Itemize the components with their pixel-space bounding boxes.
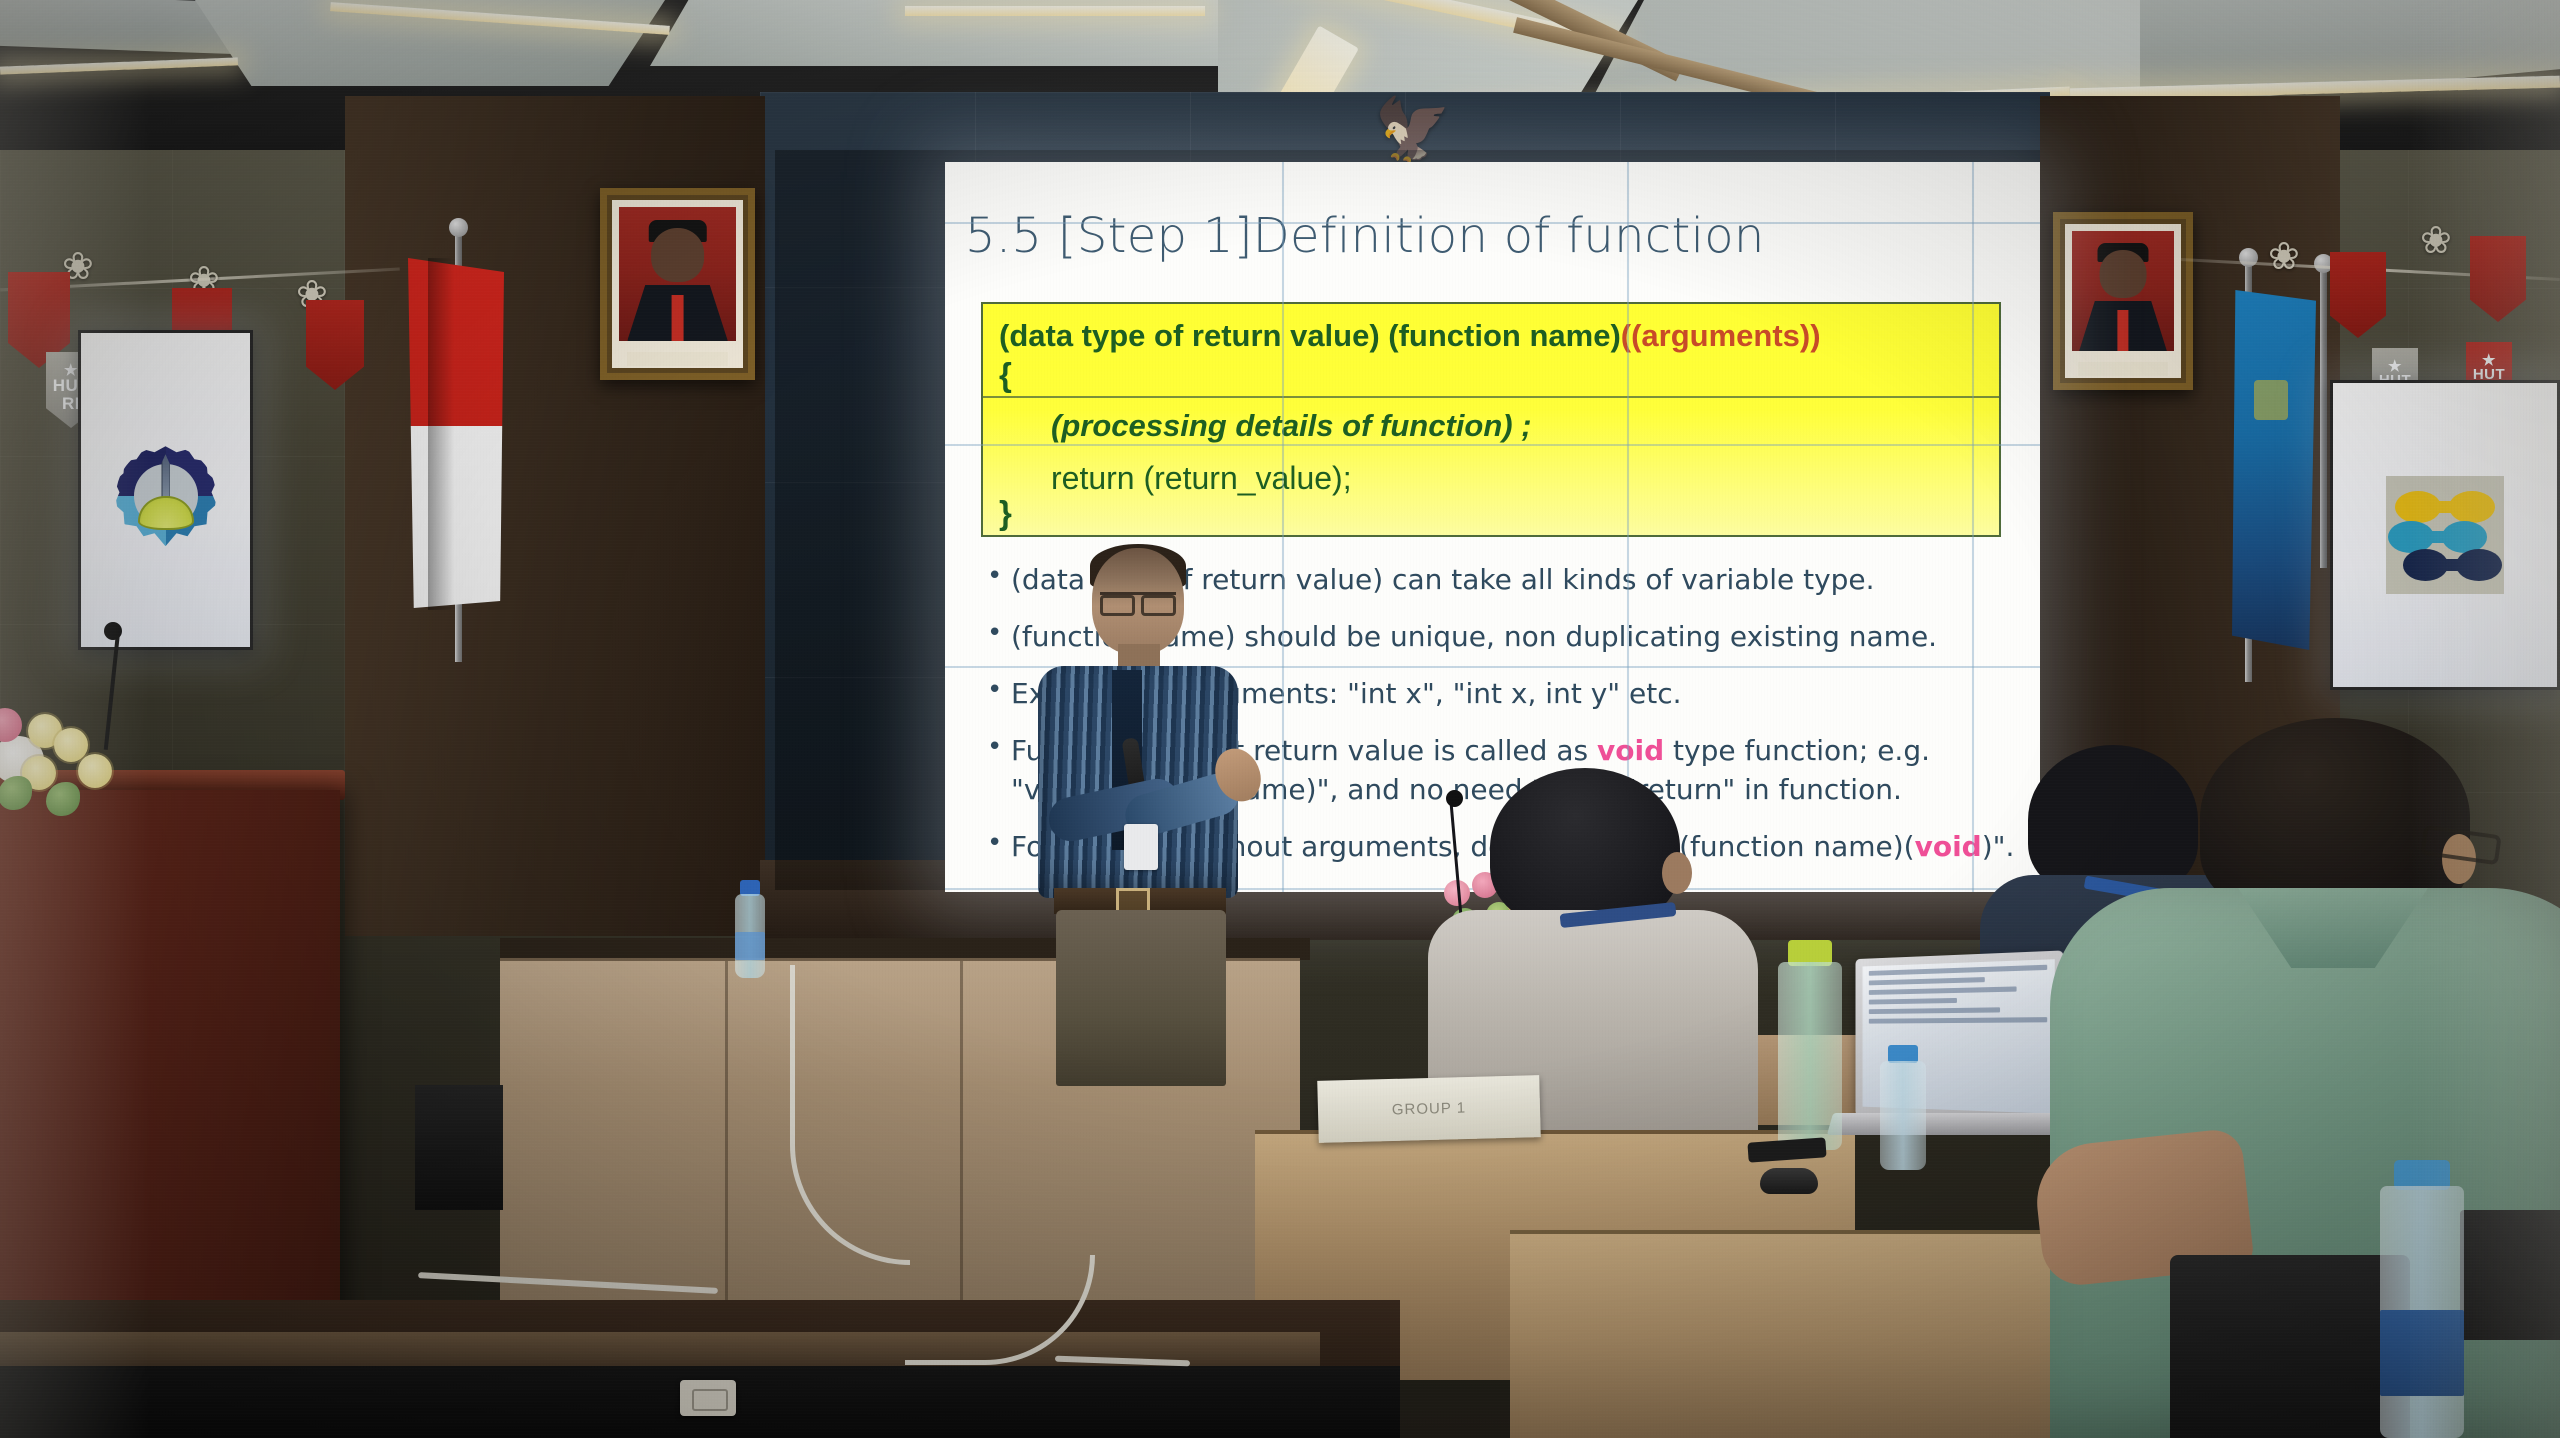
capsule-yellow: [2395, 491, 2494, 523]
flagpole-right-2: [2320, 268, 2327, 568]
slide-code-box: (data type of return value) (function na…: [981, 302, 2001, 537]
attendee-ear: [1662, 852, 1692, 894]
institutional-flag: [2232, 290, 2316, 650]
water-bottle: [735, 880, 765, 978]
code-signature-line: (data type of return value) (function na…: [999, 318, 1821, 354]
indonesian-flag: [408, 258, 504, 608]
code-open-brace: {: [999, 356, 1012, 394]
flower-arrangement-podium: [0, 690, 178, 830]
code-box-divider: [983, 396, 1999, 398]
stage-panel-seam: [725, 961, 728, 1318]
presenter-id-badge: [1124, 824, 1158, 870]
portrait-face: [651, 228, 705, 282]
roll-up-banner-left: [78, 330, 253, 650]
wooden-podium: [0, 790, 340, 1350]
flag-fold-shadow: [428, 258, 454, 610]
bunting-bow-icon: ❀: [2268, 238, 2328, 280]
portrait-tie: [671, 295, 684, 341]
presenter-trousers: [1056, 910, 1226, 1086]
leaf: [46, 782, 80, 816]
computer-mouse[interactable]: [1760, 1168, 1818, 1194]
bottle-body: [1880, 1061, 1926, 1170]
flower: [54, 728, 88, 762]
water-bottle: [1778, 940, 1842, 1150]
flagpole-knob: [449, 218, 468, 237]
bottle-label: [2380, 1310, 2464, 1396]
leaf: [0, 776, 32, 810]
bunting-bow-icon: ❀: [62, 248, 122, 290]
open-laptop[interactable]: [1830, 955, 2060, 1155]
table-name-card: GROUP 1: [1317, 1075, 1541, 1143]
water-bottle: [2380, 1160, 2464, 1438]
its-gear-lotus-logo-icon: [116, 446, 216, 546]
portrait-nameplate: [627, 352, 729, 366]
code-processing-line: (processing details of function) ;: [1051, 408, 1532, 444]
chair-back: [2170, 1255, 2410, 1438]
water-bottle: [1880, 1045, 1926, 1170]
floor-speaker: [415, 1085, 503, 1210]
floor-power-outlet[interactable]: [680, 1380, 736, 1416]
code-return-line: return (return_value);: [1051, 460, 1352, 497]
name-card-text: GROUP 1: [1318, 1098, 1540, 1121]
capsule-navy: [2403, 549, 2502, 581]
podium-microphone-icon: [104, 622, 122, 640]
portrait-tie: [2117, 310, 2128, 351]
ceiling-light-strip: [905, 6, 1205, 16]
vice-president-portrait: [2053, 212, 2193, 390]
seated-attendee-grey-shirt: [1410, 768, 1770, 1128]
bottle-label: [735, 932, 765, 960]
president-portrait: [600, 188, 755, 380]
portrait-nameplate: [2078, 362, 2169, 376]
capsule-cyan: [2388, 521, 2487, 553]
portrait-photo: [2072, 231, 2174, 351]
flower: [78, 754, 112, 788]
portrait-face: [2100, 250, 2147, 298]
slide-title: 5.5 [Step 1]Definition of function: [965, 208, 2040, 264]
glasses-icon: [1100, 592, 1176, 607]
closed-laptop[interactable]: [2460, 1210, 2560, 1340]
roll-up-banner-right: [2330, 380, 2560, 690]
presenter-lecturer: [1020, 548, 1255, 968]
laptop-keyboard-base[interactable]: [1827, 1113, 2083, 1135]
tricolor-capsule-logo-icon: [2386, 476, 2504, 594]
bottle-body: [1778, 962, 1842, 1150]
code-close-brace: }: [999, 494, 1012, 532]
portrait-photo: [619, 207, 736, 341]
flag-emblem: [2254, 380, 2288, 420]
lecture-hall-scene: 🦅 ❀ ❀ ❀: [0, 0, 2560, 1438]
